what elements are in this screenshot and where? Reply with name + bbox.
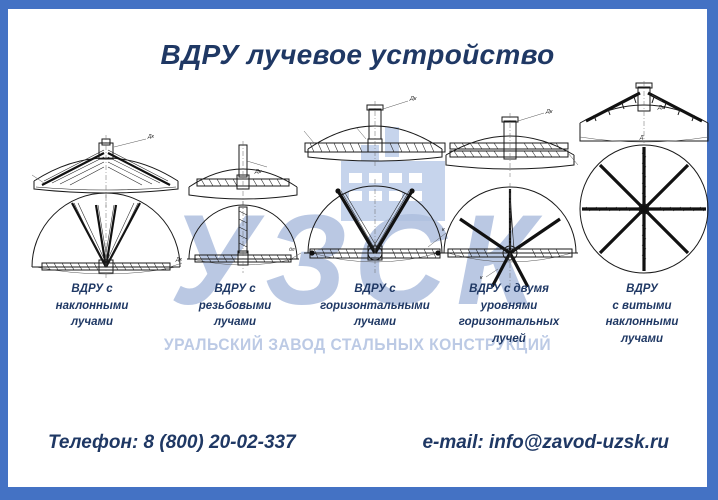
caption-line: резьбовыми [171, 298, 299, 315]
caption-line: ВДРУ с двумя [438, 281, 580, 298]
caption-vdru-inclined-rays: ВДРУ с наклонными лучами [22, 281, 162, 331]
caption-line: лучами [304, 314, 446, 331]
svg-text:Дк: Дк [175, 257, 183, 263]
caption-line: ВДРУ [578, 281, 706, 298]
svg-text:Дк: Дк [409, 96, 417, 102]
figure-vdru-threaded-rays: Дк дл [183, 141, 303, 281]
figures-row: Дк [8, 81, 707, 281]
svg-text:Дк: Дк [657, 105, 665, 111]
caption-line: горизонтальных [438, 314, 580, 331]
poster-page: УЗСК УРАЛЬСКИЙ ЗАВОД СТАЛЬНЫХ КОНСТРУКЦИ… [8, 9, 707, 487]
page-title: ВДРУ лучевое устройство [8, 39, 707, 71]
caption-vdru-horizontal-rays: ВДРУ с горизонтальными лучами [304, 281, 446, 331]
email-address[interactable]: e-mail: info@zavod-uzsk.ru [422, 432, 669, 454]
caption-line: уровнями [438, 298, 580, 315]
caption-line: с витыми [578, 298, 706, 315]
caption-vdru-twisted-rays: ВДРУ с витыми наклонными лучами [578, 281, 706, 348]
svg-text:Дк: Дк [147, 134, 155, 140]
figure-vdru-twisted-rays: Дк Д [574, 81, 714, 281]
caption-line: горизонтальными [304, 298, 446, 315]
svg-text:Дк: Дк [545, 109, 553, 115]
poster-frame: УЗСК УРАЛЬСКИЙ ЗАВОД СТАЛЬНЫХ КОНСТРУКЦИ… [8, 9, 707, 487]
figure-vdru-inclined-rays: Дк [26, 119, 186, 279]
caption-line: ВДРУ с [171, 281, 299, 298]
contact-bar: Телефон: 8 (800) 20-02-337 e-mail: info@… [8, 432, 707, 462]
figure-captions: ВДРУ с наклонными лучами ВДРУ с резьбовы… [8, 281, 707, 371]
caption-line: наклонными [22, 298, 162, 315]
phone-number[interactable]: Телефон: 8 (800) 20-02-337 [48, 432, 296, 454]
caption-vdru-threaded-rays: ВДРУ с резьбовыми лучами [171, 281, 299, 331]
figure-vdru-two-level-rays: Дк [440, 107, 580, 287]
caption-line: лучей [438, 331, 580, 348]
caption-line: лучами [578, 331, 706, 348]
svg-text:дл: дл [289, 247, 295, 253]
svg-text:Дк: Дк [254, 169, 262, 175]
figure-vdru-horizontal-rays: Дк [300, 87, 450, 277]
svg-text:Д: Д [639, 135, 644, 141]
caption-line: лучами [22, 314, 162, 331]
caption-line: ВДРУ с [22, 281, 162, 298]
caption-vdru-two-level-rays: ВДРУ с двумя уровнями горизонтальных луч… [438, 281, 580, 348]
caption-line: лучами [171, 314, 299, 331]
caption-line: ВДРУ с [304, 281, 446, 298]
caption-line: наклонными [578, 314, 706, 331]
